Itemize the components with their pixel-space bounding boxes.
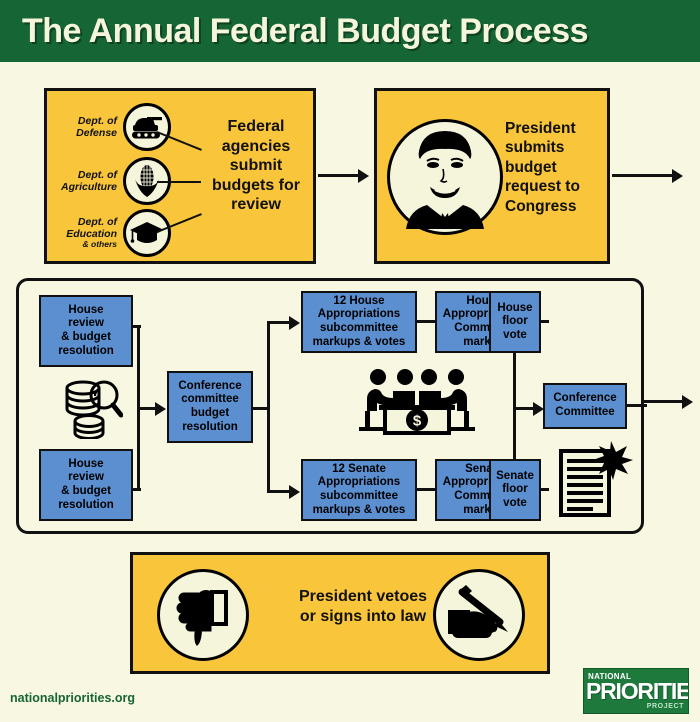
connector-house-bottom-vertical [137,407,140,491]
svg-text:$: $ [413,413,422,430]
box-conference-committee[interactable]: ConferenceCommittee [543,383,627,429]
page-title: The Annual Federal Budget Process [22,12,588,51]
box-conference-budget-resolution[interactable]: Conferencecommitteebudgetresolution [167,371,253,443]
department-label-education: Dept. of Education & others [53,216,117,250]
connector-to-house-subcommittee [267,321,291,324]
department-label-line1: Dept. of [78,115,117,127]
arrow-president-to-congress [612,174,674,177]
step-congressional-process: Housereview& budgetresolution Houserevie… [16,278,644,534]
arrowhead-congress-exit [682,395,693,409]
coins-magnifier-icon [59,375,123,439]
connector-congress-exit [627,404,647,407]
arrowhead-to-conference [155,402,166,416]
step-president-submits-request: President submits budget request to Cong… [374,88,610,264]
president-portrait-icon [387,119,503,235]
agencies-description: Federal agencies submit budgets for revi… [197,117,315,215]
arrow-agencies-to-president [318,174,360,177]
connector-house-top-stub [133,325,141,328]
box-house-subcommittee-markups[interactable]: 12 HouseAppropriationssubcommitteemarkup… [301,291,417,353]
department-label-line2: Defense [76,127,117,139]
connector-senate-sub-to-committee [417,488,437,491]
department-row-education: Dept. of Education & others [53,209,171,257]
logo-text-priorities: PRIORITIES [586,678,689,705]
connector-senate-floor-up [513,407,516,461]
veto-description: President vetoes or signs into law [293,587,433,628]
tank-icon [123,103,171,151]
connector-house-floor-down [513,353,516,409]
arrowhead-to-senate-subcommittee [289,485,300,499]
connector-house-sub-to-committee [417,320,437,323]
step-agencies-submit-budgets: Dept. of Defense Dept. of Agriculture [44,88,316,264]
department-label-line1: Dept. of [78,216,117,228]
leader-line-agriculture [157,181,201,183]
logo-text-project: PROJECT [647,703,684,710]
department-label-line2: Agriculture [61,181,117,193]
thumbs-down-icon [157,569,249,661]
box-senate-subcommittee-markups[interactable]: 12 SenateAppropriationssubcommitteemarku… [301,459,417,521]
signing-hand-icon [433,569,525,661]
national-priorities-project-logo[interactable]: NATIONAL PRIORITIES PROJECT [583,668,689,714]
arrowhead-to-house-subcommittee [289,316,300,330]
department-row-defense: Dept. of Defense [53,103,171,151]
website-url[interactable]: nationalpriorities.org [10,691,135,705]
connector-to-senate-subcommittee [267,490,291,493]
step-president-vetoes-or-signs: President vetoes or signs into law [130,552,550,674]
arrowhead-president-to-congress [672,169,683,183]
connector-house-top-vertical [137,325,140,409]
committee-table-icon: $ [355,367,479,441]
department-label-defense: Dept. of Defense [53,115,117,139]
graduation-cap-icon [123,209,171,257]
box-house-review-top[interactable]: Housereview& budgetresolution [39,295,133,367]
arrowhead-agencies-to-president [358,169,369,183]
box-senate-floor-vote[interactable]: Senatefloorvote [489,459,541,521]
page-banner: The Annual Federal Budget Process [0,0,700,62]
department-label-agriculture: Dept. of Agriculture [53,169,117,193]
arrow-congress-to-president-action [644,400,686,403]
connector-floor-to-conference-committee [513,407,535,410]
president-description: President submits budget request to Cong… [505,119,609,216]
department-row-agriculture: Dept. of Agriculture [53,157,171,205]
box-house-review-bottom[interactable]: Housereview& budgetresolution [39,449,133,521]
connector-to-conference [137,407,157,410]
connector-conference-split [267,321,270,493]
department-label-others: & others [53,240,117,250]
box-house-floor-vote[interactable]: Housefloorvote [489,291,541,353]
connector-house-bottom-stub [133,488,141,491]
document-starburst-icon [555,439,633,521]
department-label-line1: Dept. of [78,169,117,181]
